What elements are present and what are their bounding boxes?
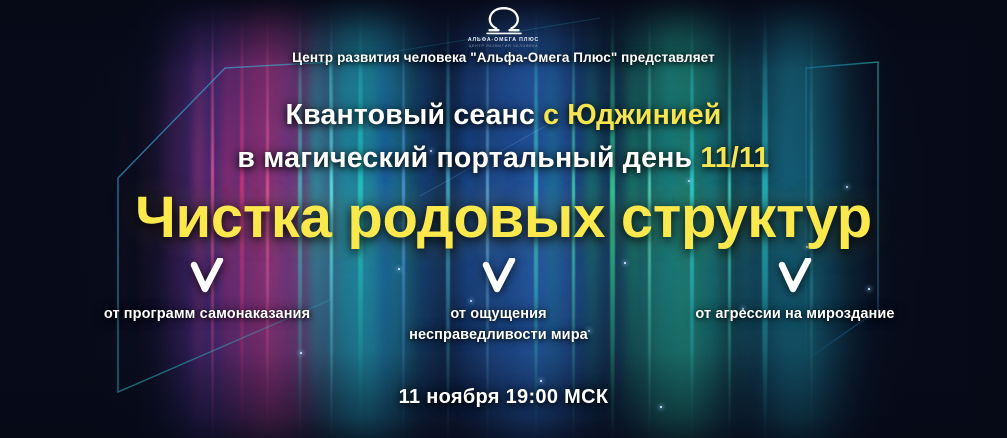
headline-line-2-accent: 11/11	[700, 142, 769, 174]
brand-logo-subtitle: ЦЕНТР РАЗВИТИЯ ЧЕЛОВЕКА	[469, 44, 539, 49]
benefit-item-2: от ощущения несправедливости мира	[354, 258, 644, 345]
headline-line-2-white: в магический портальный день	[237, 142, 700, 174]
promo-banner: АЛЬФА-ОМЕГА ПЛЮС ЦЕНТР РАЗВИТИЯ ЧЕЛОВЕКА…	[0, 0, 1007, 438]
headline-line-1: Квантовый сеанс с Юджинией	[0, 99, 1007, 132]
benefits-list: от программ самонаказания от ощущения не…	[0, 258, 1007, 345]
benefit-item-3: от агрессии на мироздание	[645, 258, 945, 345]
brand-logo: АЛЬФА-ОМЕГА ПЛЮС ЦЕНТР РАЗВИТИЯ ЧЕЛОВЕКА	[0, 4, 1007, 48]
main-title: Чистка родовых структур	[0, 188, 1007, 249]
headline-line-1-accent: с Юджинией	[543, 99, 721, 131]
benefit-item-1-text: от программ самонаказания	[104, 304, 310, 325]
banner-content: АЛЬФА-ОМЕГА ПЛЮС ЦЕНТР РАЗВИТИЯ ЧЕЛОВЕКА…	[0, 0, 1007, 438]
presenter-line: Центр развития человека "Альфа-Омега Плю…	[0, 50, 1007, 65]
headline-line-2: в магический портальный день 11/11	[0, 142, 1007, 175]
benefit-item-3-text: от агрессии на мироздание	[695, 304, 894, 325]
checkmark-icon	[190, 258, 224, 296]
checkmark-icon	[778, 258, 812, 296]
event-datetime: 11 ноября 19:00 МСК	[0, 386, 1007, 409]
omega-libra-logo-icon	[484, 4, 524, 36]
benefit-item-1: от программ самонаказания	[62, 258, 352, 345]
benefit-item-2-text: от ощущения несправедливости мира	[409, 304, 588, 345]
headline-line-1-white: Квантовый сеанс	[285, 99, 543, 131]
checkmark-icon	[482, 258, 516, 296]
